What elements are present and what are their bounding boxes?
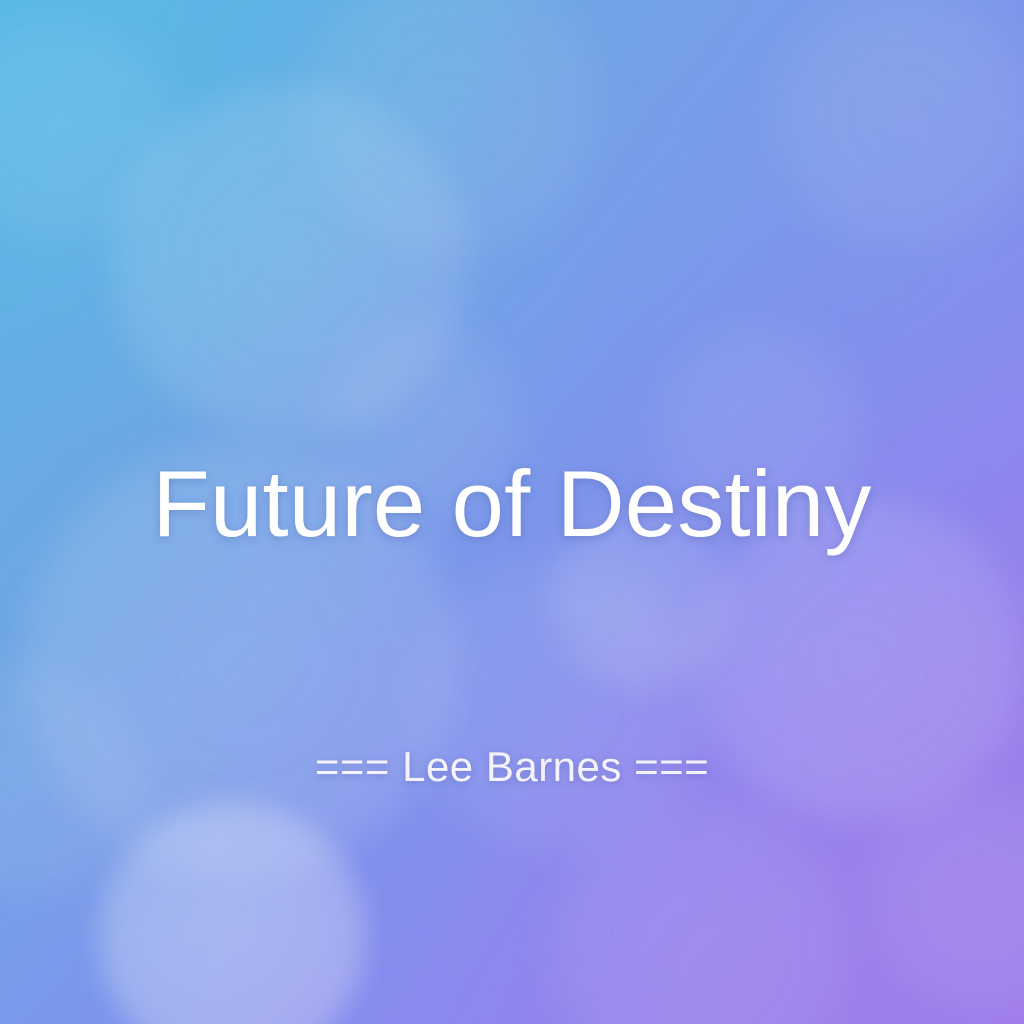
slide-content: Future of Destiny === Lee Barnes === bbox=[0, 0, 1024, 1024]
title-slide: Future of Destiny === Lee Barnes === bbox=[0, 0, 1024, 1024]
slide-subtitle-author: === Lee Barnes === bbox=[0, 742, 1024, 792]
page-title: Future of Destiny bbox=[0, 451, 1024, 556]
